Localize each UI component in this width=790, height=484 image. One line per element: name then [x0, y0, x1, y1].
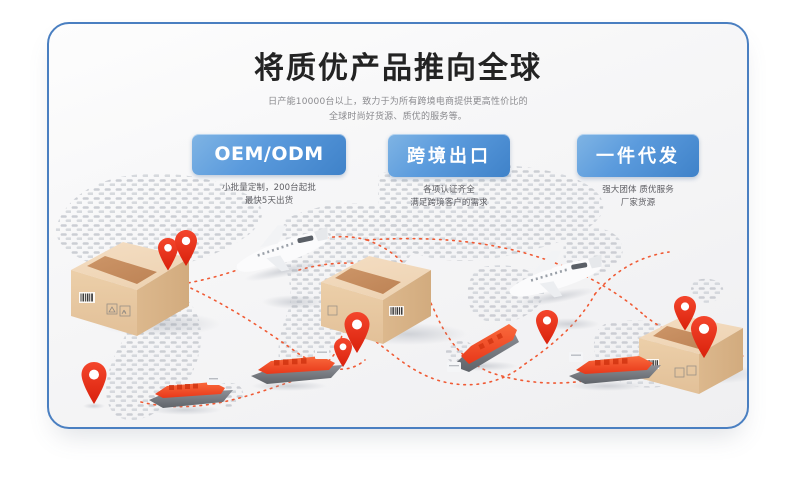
- page-subtitle: 日产能10000台以上，致力于为所有跨境电商提供更高性价比的 全球时尚好货源、质…: [238, 95, 558, 125]
- badge-cross-border-export[interactable]: 跨境出口 各项认证齐全 满足跨境客户的需求: [372, 134, 526, 210]
- badge-oem-odm[interactable]: OEM/ODM 小批量定制，200台起批 最快5天出货: [181, 134, 357, 208]
- screenshot-root: 将质优产品推向全球 日产能10000台以上，致力于为所有跨境电商提供更高性价比的…: [0, 0, 790, 484]
- promo-card: 将质优产品推向全球 日产能10000台以上，致力于为所有跨境电商提供更高性价比的…: [47, 22, 749, 429]
- badge-desc-line-2: 最快5天出货: [181, 195, 357, 208]
- badge-desc-line-1: 小批量定制，200台起批: [181, 182, 357, 195]
- badge-dropshipping-description: 强大团体 质优服务 厂家货源: [561, 184, 715, 210]
- map-pin-icon: [334, 338, 352, 367]
- badge-oem-odm-label[interactable]: OEM/ODM: [192, 134, 345, 175]
- subtitle-line-2: 全球时尚好货源、质优的服务等。: [238, 110, 558, 125]
- header: 将质优产品推向全球 日产能10000台以上，致力于为所有跨境电商提供更高性价比的…: [49, 24, 747, 125]
- badge-oem-odm-description: 小批量定制，200台起批 最快5天出货: [181, 182, 357, 208]
- badge-dropshipping-label[interactable]: 一件代发: [577, 134, 699, 177]
- badge-cross-border-export-label[interactable]: 跨境出口: [388, 134, 510, 177]
- badge-desc-line-1: 强大团体 质优服务: [561, 184, 715, 197]
- map-pin-icon: [82, 362, 107, 409]
- badge-dropshipping[interactable]: 一件代发 强大团体 质优服务 厂家货源: [561, 134, 715, 210]
- badge-cross-border-export-description: 各项认证齐全 满足跨境客户的需求: [372, 184, 526, 210]
- feature-badges: OEM/ODM 小批量定制，200台起批 最快5天出货 跨境出口 各项认证齐全 …: [49, 134, 747, 224]
- subtitle-line-1: 日产能10000台以上，致力于为所有跨境电商提供更高性价比的: [268, 97, 528, 107]
- map-pin-icon: [536, 310, 558, 345]
- badge-desc-line-2: 满足跨境客户的需求: [372, 197, 526, 210]
- page-title: 将质优产品推向全球: [49, 24, 747, 86]
- badge-desc-line-1: 各项认证齐全: [372, 184, 526, 197]
- badge-desc-line-2: 厂家货源: [561, 197, 715, 210]
